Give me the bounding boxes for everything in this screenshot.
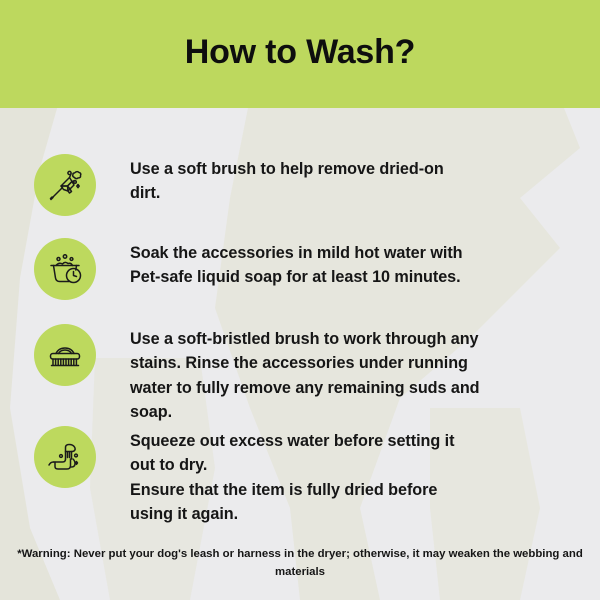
step-line: Use a soft brush to help remove dried-on — [130, 157, 560, 181]
step-line: Pet-safe liquid soap for at least 10 min… — [130, 265, 560, 289]
step-item-3: Use a soft-bristled brush to work throug… — [34, 324, 560, 424]
feather-duster-icon — [34, 154, 96, 216]
wash-basin-timer-icon — [34, 238, 96, 300]
step-item-1: Use a soft brush to help remove dried-on… — [34, 154, 560, 216]
step-item-4: Squeeze out excess water before setting … — [34, 426, 560, 526]
scrub-brush-icon — [34, 324, 96, 386]
header-banner: How to Wash? — [0, 0, 600, 108]
step-line: water to fully remove any remaining suds… — [130, 376, 560, 400]
wringing-hands-icon — [34, 426, 96, 488]
step-line: dirt. — [130, 181, 560, 205]
step-line: out to dry. — [130, 453, 560, 477]
step-text-3: Use a soft-bristled brush to work throug… — [130, 324, 560, 424]
step-line: Ensure that the item is fully dried befo… — [130, 478, 560, 502]
step-text-1: Use a soft brush to help remove dried-on… — [130, 154, 560, 206]
step-line: soap. — [130, 400, 560, 424]
step-line: Use a soft-bristled brush to work throug… — [130, 327, 560, 351]
step-text-4: Squeeze out excess water before setting … — [130, 426, 560, 526]
how-to-wash-infographic: How to Wash? — [0, 0, 600, 600]
step-item-2: Soak the accessories in mild hot water w… — [34, 238, 560, 300]
step-line: stains. Rinse the accessories under runn… — [130, 351, 560, 375]
step-line: Squeeze out excess water before setting … — [130, 429, 560, 453]
warning-note: *Warning: Never put your dog's leash or … — [0, 546, 600, 581]
step-text-2: Soak the accessories in mild hot water w… — [130, 238, 560, 290]
step-line: Soak the accessories in mild hot water w… — [130, 241, 560, 265]
page-title: How to Wash? — [185, 35, 416, 73]
step-line: using it again. — [130, 502, 560, 526]
